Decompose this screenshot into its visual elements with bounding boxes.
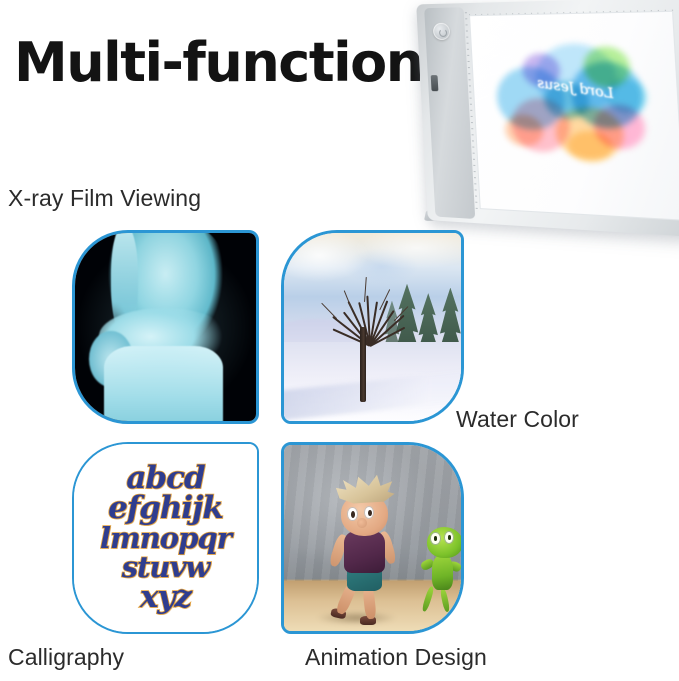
watercolor-splash-artwork: Lord Jesus (484, 28, 667, 177)
calligraphy-row: lmnopqr (100, 525, 231, 553)
alien-left-leg (421, 586, 435, 613)
painting-tree-trunk (360, 327, 366, 402)
xray-film-image (75, 233, 256, 421)
winter-painting-image (284, 233, 461, 421)
feature-panel-animation (281, 442, 464, 634)
boy-nose (357, 518, 367, 528)
alien-body (432, 555, 453, 590)
animation-characters-image (284, 445, 461, 631)
painting-bare-tree-crown (305, 248, 432, 346)
caption-calligraphy: Calligraphy (8, 644, 124, 671)
page-title: Multi-function (14, 36, 423, 90)
calligraphy-row: efghijk (108, 494, 223, 524)
calligraphy-row: abcd (126, 464, 204, 494)
boy-pupil (368, 510, 372, 517)
alien-right-leg (440, 588, 451, 613)
boy-shirt (344, 531, 385, 573)
feature-panel-watercolor (281, 230, 464, 424)
xray-backlight-glow (75, 233, 256, 421)
usb-port-icon (431, 75, 439, 91)
calligraphy-row: stuvw (122, 554, 210, 582)
calligraphy-row: xyz (140, 583, 191, 613)
calligraphy-alphabet-image: abcd efghijk lmnopqr stuvw xyz (74, 444, 257, 632)
boy-right-leg (362, 586, 377, 620)
caption-xray-film-viewing: X-ray Film Viewing (8, 185, 201, 212)
light-pad-screen: Lord Jesus (469, 11, 679, 221)
light-pad-product-image: Lord Jesus (418, 4, 676, 232)
feature-panel-xray (72, 230, 259, 424)
cartoon-boy-character (323, 475, 404, 624)
light-pad-body: Lord Jesus (416, 0, 679, 237)
alien-pupil (448, 535, 452, 540)
caption-animation-design: Animation Design (305, 644, 487, 671)
caption-water-color: Water Color (456, 406, 579, 433)
green-alien-character (419, 527, 464, 620)
feature-panel-calligraphy: abcd efghijk lmnopqr stuvw xyz (72, 442, 259, 634)
